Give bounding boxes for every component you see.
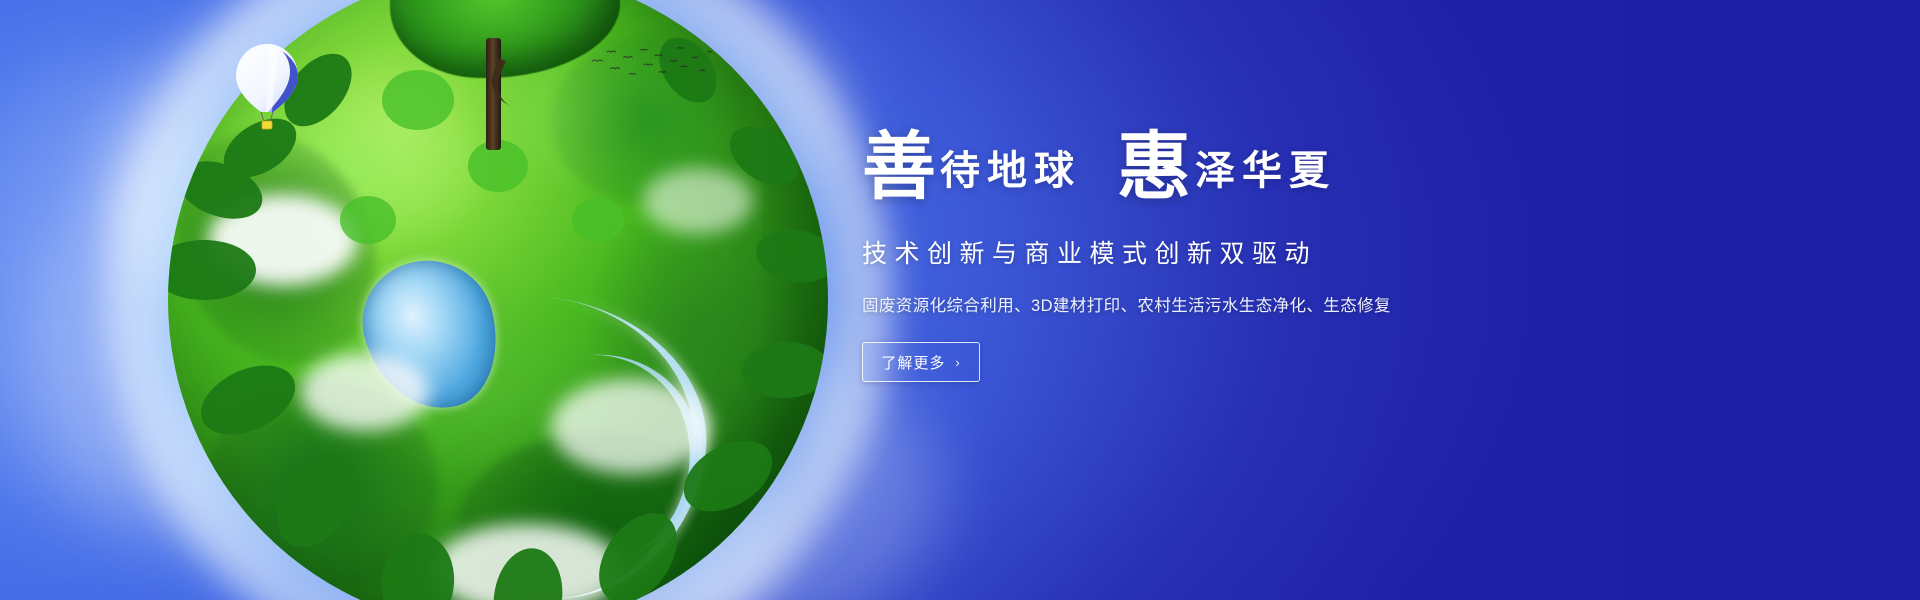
title-calligraphy-shan: 善: [862, 124, 936, 210]
bird-flock: [588, 44, 718, 90]
chevron-right-icon: ›: [955, 355, 960, 370]
hot-air-balloon: [232, 42, 302, 134]
hero-subtitle: 技术创新与商业模式创新双驱动: [862, 234, 1522, 270]
title-calligraphy-hui: 惠: [1117, 124, 1191, 210]
hero-copy: 善待地球惠泽华夏 技术创新与商业模式创新双驱动 固废资源化综合利用、3D建材打印…: [862, 130, 1522, 382]
page-title: 善待地球惠泽华夏: [862, 130, 1522, 216]
title-tail-daidiqiu: 待地球: [940, 148, 1081, 193]
hero-banner: 善待地球惠泽华夏 技术创新与商业模式创新双驱动 固废资源化综合利用、3D建材打印…: [0, 0, 1920, 600]
learn-more-button[interactable]: 了解更多 ›: [862, 342, 980, 382]
title-tail-zehuaxia: 泽华夏: [1195, 148, 1336, 193]
learn-more-label: 了解更多: [881, 352, 945, 373]
hero-description: 固废资源化综合利用、3D建材打印、农村生活污水生态净化、生态修复: [862, 292, 1522, 316]
large-tree-on-planet: [390, 0, 620, 148]
